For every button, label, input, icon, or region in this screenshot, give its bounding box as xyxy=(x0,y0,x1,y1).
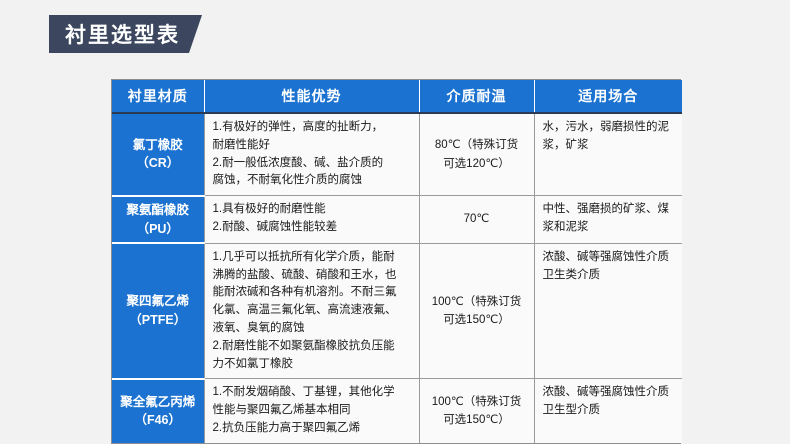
cell-temperature: 100℃（特殊订货可选150℃） xyxy=(419,379,534,443)
material-name: 聚四氟乙烯 xyxy=(126,294,189,308)
performance-line: 2.耐酸、碱腐蚀性能较差 xyxy=(213,219,411,237)
usage-line: 中性、强磨损的矿浆、煤 xyxy=(543,201,675,219)
table-row: 聚四氟乙烯（PTFE）1.几乎可以抵抗所有化学介质，能耐沸腾的盐酸、硫酸、硝酸和… xyxy=(112,243,682,379)
lining-selection-table: 衬里材质 性能优势 介质耐温 适用场合 氯丁橡胶（CR）1.有极好的弹性，高度的… xyxy=(112,80,682,443)
temperature-line: 80℃（特殊订货 xyxy=(428,136,526,154)
cell-usage: 中性、强磨损的矿浆、煤浆和泥浆 xyxy=(534,196,682,244)
cell-performance: 1.具有极好的耐磨性能2.耐酸、碱腐蚀性能较差 xyxy=(204,196,419,244)
column-header-usage: 适用场合 xyxy=(534,80,682,113)
material-name: 聚全氟乙丙烯 xyxy=(120,395,195,409)
usage-line: 浆和泥浆 xyxy=(543,219,675,237)
usage-line: 卫生型介质 xyxy=(543,402,675,420)
usage-line: 卫生类介质 xyxy=(543,267,675,285)
cell-temperature: 100℃（特殊订货可选150℃） xyxy=(419,243,534,379)
column-header-material: 衬里材质 xyxy=(112,80,204,113)
performance-line: 腐蚀，不耐氧化性介质的腐蚀 xyxy=(213,172,411,190)
cell-performance: 1.不耐发烟硝酸、丁基锂，其他化学性能与聚四氟乙烯基本相同2.抗负压能力高于聚四… xyxy=(204,379,419,443)
performance-line: 性能与聚四氟乙烯基本相同 xyxy=(213,402,411,420)
cell-material: 氯丁橡胶（CR） xyxy=(112,113,204,196)
performance-line: 1.有极好的弹性，高度的扯断力， xyxy=(213,119,411,137)
performance-line: 力不如氯丁橡胶 xyxy=(213,356,411,374)
table-row: 氯丁橡胶（CR）1.有极好的弹性，高度的扯断力，耐磨性能好2.耐一般低浓度酸、碱… xyxy=(112,113,682,196)
performance-line: 2.耐磨性能不如聚氨酯橡胶抗负压能 xyxy=(213,338,411,356)
lining-selection-table-wrapper: 衬里材质 性能优势 介质耐温 适用场合 氯丁橡胶（CR）1.有极好的弹性，高度的… xyxy=(111,79,681,444)
table-header-row: 衬里材质 性能优势 介质耐温 适用场合 xyxy=(112,80,682,113)
temperature-line: 100℃（特殊订货 xyxy=(428,293,526,311)
cell-temperature: 80℃（特殊订货可选120℃） xyxy=(419,113,534,196)
performance-line: 1.不耐发烟硝酸、丁基锂，其他化学 xyxy=(213,384,411,402)
usage-line: 浓酸、碱等强腐蚀性介质 xyxy=(543,249,675,267)
usage-line: 浆，矿浆 xyxy=(543,137,675,155)
column-header-temperature: 介质耐温 xyxy=(419,80,534,113)
usage-line: 浓酸、碱等强腐蚀性介质 xyxy=(543,384,675,402)
table-row: 聚氨酯橡胶（PU）1.具有极好的耐磨性能2.耐酸、碱腐蚀性能较差70℃中性、强磨… xyxy=(112,196,682,244)
cell-material: 聚四氟乙烯（PTFE） xyxy=(112,243,204,379)
material-code: （PU） xyxy=(114,220,202,239)
performance-line: 耐磨性能好 xyxy=(213,137,411,155)
cell-usage: 水，污水，弱磨损性的泥浆，矿浆 xyxy=(534,113,682,196)
page-title: 衬里选型表 xyxy=(65,19,180,49)
column-header-performance: 性能优势 xyxy=(204,80,419,113)
performance-line: 1.具有极好的耐磨性能 xyxy=(213,201,411,219)
usage-line: 水，污水，弱磨损性的泥 xyxy=(543,119,675,137)
cell-performance: 1.有极好的弹性，高度的扯断力，耐磨性能好2.耐一般低浓度酸、碱、盐介质的腐蚀，… xyxy=(204,113,419,196)
material-code: （F46） xyxy=(114,411,202,430)
material-name: 氯丁橡胶 xyxy=(133,138,183,152)
temperature-line: 100℃（特殊订货 xyxy=(428,393,526,411)
performance-line: 1.几乎可以抵抗所有化学介质，能耐 xyxy=(213,249,411,267)
table-header: 衬里材质 性能优势 介质耐温 适用场合 xyxy=(112,80,682,113)
table-body: 氯丁橡胶（CR）1.有极好的弹性，高度的扯断力，耐磨性能好2.耐一般低浓度酸、碱… xyxy=(112,113,682,443)
cell-usage: 浓酸、碱等强腐蚀性介质卫生类介质 xyxy=(534,243,682,379)
temperature-line: 70℃ xyxy=(428,210,526,228)
cell-performance: 1.几乎可以抵抗所有化学介质，能耐沸腾的盐酸、硫酸、硝酸和王水，也能耐浓碱和各种… xyxy=(204,243,419,379)
material-code: （PTFE） xyxy=(114,311,202,330)
page-root: 衬里选型表 衬里材质 性能优势 介质耐温 适用场合 氯丁橡胶（CR）1.有极好的… xyxy=(0,0,790,423)
performance-line: 2.耐一般低浓度酸、碱、盐介质的 xyxy=(213,155,411,173)
performance-line: 能耐浓碱和各种有机溶剂。不耐三氟 xyxy=(213,284,411,302)
temperature-line: 可选120℃） xyxy=(428,155,526,173)
material-name: 聚氨酯橡胶 xyxy=(126,203,189,217)
performance-line: 液氧、臭氧的腐蚀 xyxy=(213,320,411,338)
cell-material: 聚全氟乙丙烯（F46） xyxy=(112,379,204,443)
cell-usage: 浓酸、碱等强腐蚀性介质卫生型介质 xyxy=(534,379,682,443)
cell-temperature: 70℃ xyxy=(419,196,534,244)
material-code: （CR） xyxy=(114,154,202,173)
performance-line: 沸腾的盐酸、硫酸、硝酸和王水，也 xyxy=(213,267,411,285)
cell-material: 聚氨酯橡胶（PU） xyxy=(112,196,204,244)
performance-line: 化氯、高温三氟化氧、高流速液氟、 xyxy=(213,302,411,320)
table-row: 聚全氟乙丙烯（F46）1.不耐发烟硝酸、丁基锂，其他化学性能与聚四氟乙烯基本相同… xyxy=(112,379,682,443)
page-title-banner: 衬里选型表 xyxy=(49,15,202,53)
temperature-line: 可选150℃） xyxy=(428,311,526,329)
temperature-line: 可选150℃） xyxy=(428,411,526,429)
